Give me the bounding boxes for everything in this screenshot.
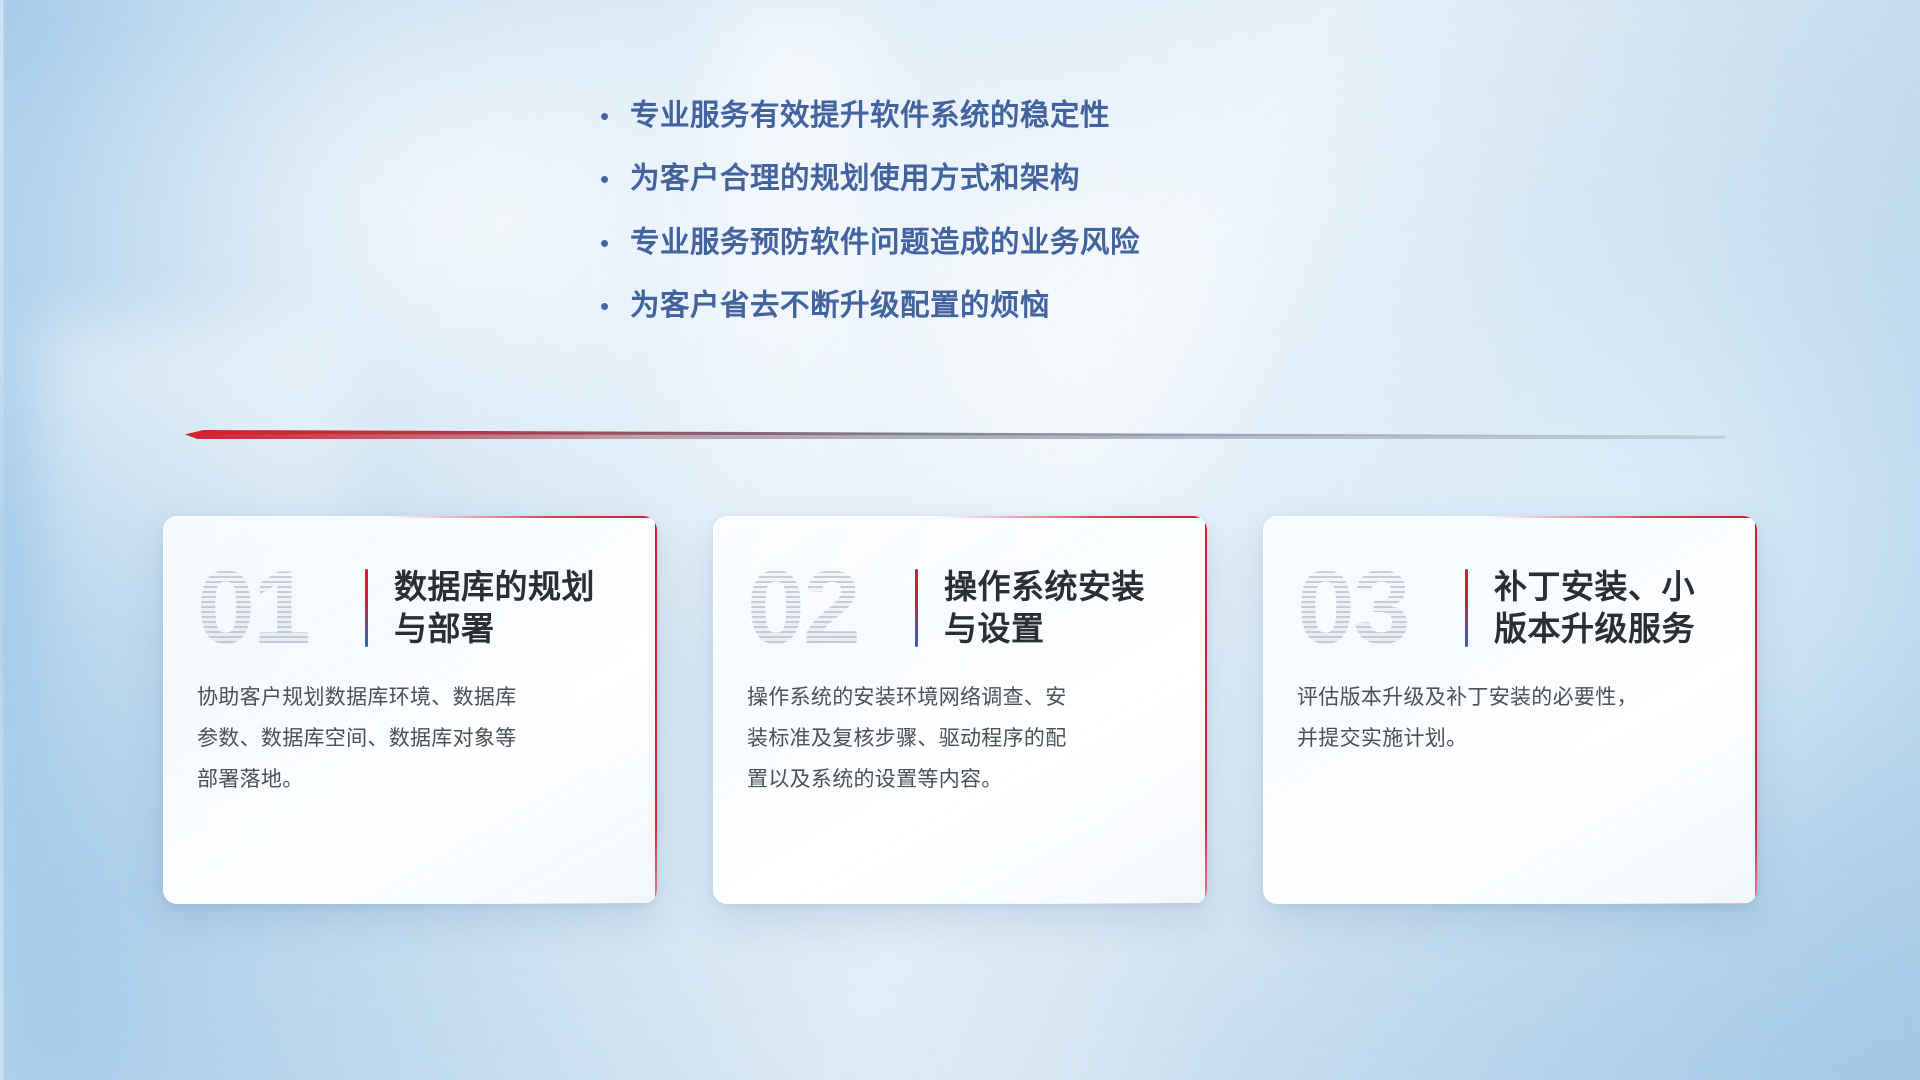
section-divider: [185, 430, 1725, 444]
bullet-dot-icon: •: [600, 230, 630, 256]
card-03[interactable]: 03 补丁安装、小 版本升级服务 评估版本升级及补丁安装的必要性， 并提交实施计…: [1263, 516, 1757, 904]
card-title-divider: [365, 569, 368, 647]
card-01[interactable]: 01 数据库的规划 与部署 协助客户规划数据库环境、数据库 参数、数据库空间、数…: [163, 516, 657, 904]
list-item: • 专业服务预防软件问题造成的业务风险: [600, 227, 1320, 259]
card-title: 数据库的规划 与部署: [394, 566, 595, 650]
bullet-text: 专业服务预防软件问题造成的业务风险: [630, 227, 1140, 259]
card-body-text: 协助客户规划数据库环境、数据库 参数、数据库空间、数据库对象等 部署落地。: [163, 666, 657, 801]
card-header: 03 补丁安装、小 版本升级服务: [1263, 516, 1757, 666]
card-title-divider: [915, 569, 918, 647]
card-bottom-edge: [163, 903, 657, 904]
card-title: 操作系统安装 与设置: [944, 566, 1145, 650]
bullet-dot-icon: •: [600, 166, 630, 192]
card-number: 03: [1297, 556, 1465, 660]
card-title: 补丁安装、小 版本升级服务: [1494, 566, 1695, 650]
card-group: 01 数据库的规划 与部署 协助客户规划数据库环境、数据库 参数、数据库空间、数…: [0, 516, 1920, 904]
list-item: • 为客户省去不断升级配置的烦恼: [600, 290, 1320, 322]
bullet-text: 专业服务有效提升软件系统的稳定性: [630, 100, 1110, 132]
list-item: • 专业服务有效提升软件系统的稳定性: [600, 100, 1320, 132]
bullet-dot-icon: •: [600, 103, 630, 129]
bullet-list: • 专业服务有效提升软件系统的稳定性 • 为客户合理的规划使用方式和架构 • 专…: [0, 100, 1920, 354]
card-bottom-edge: [1263, 903, 1757, 904]
card-02[interactable]: 02 操作系统安装 与设置 操作系统的安装环境网络调查、安 装标准及复核步骤、驱…: [713, 516, 1207, 904]
card-title-divider: [1465, 569, 1468, 647]
card-body-text: 评估版本升级及补丁安装的必要性， 并提交实施计划。: [1263, 666, 1757, 760]
card-bottom-edge: [713, 903, 1207, 904]
bullet-text: 为客户省去不断升级配置的烦恼: [630, 290, 1050, 322]
bullet-dot-icon: •: [600, 293, 630, 319]
card-number: 01: [197, 556, 365, 660]
card-number: 02: [747, 556, 915, 660]
list-item: • 为客户合理的规划使用方式和架构: [600, 163, 1320, 195]
card-body-text: 操作系统的安装环境网络调查、安 装标准及复核步骤、驱动程序的配 置以及系统的设置…: [713, 666, 1207, 801]
card-header: 02 操作系统安装 与设置: [713, 516, 1207, 666]
card-header: 01 数据库的规划 与部署: [163, 516, 657, 666]
bullet-text: 为客户合理的规划使用方式和架构: [630, 163, 1080, 195]
